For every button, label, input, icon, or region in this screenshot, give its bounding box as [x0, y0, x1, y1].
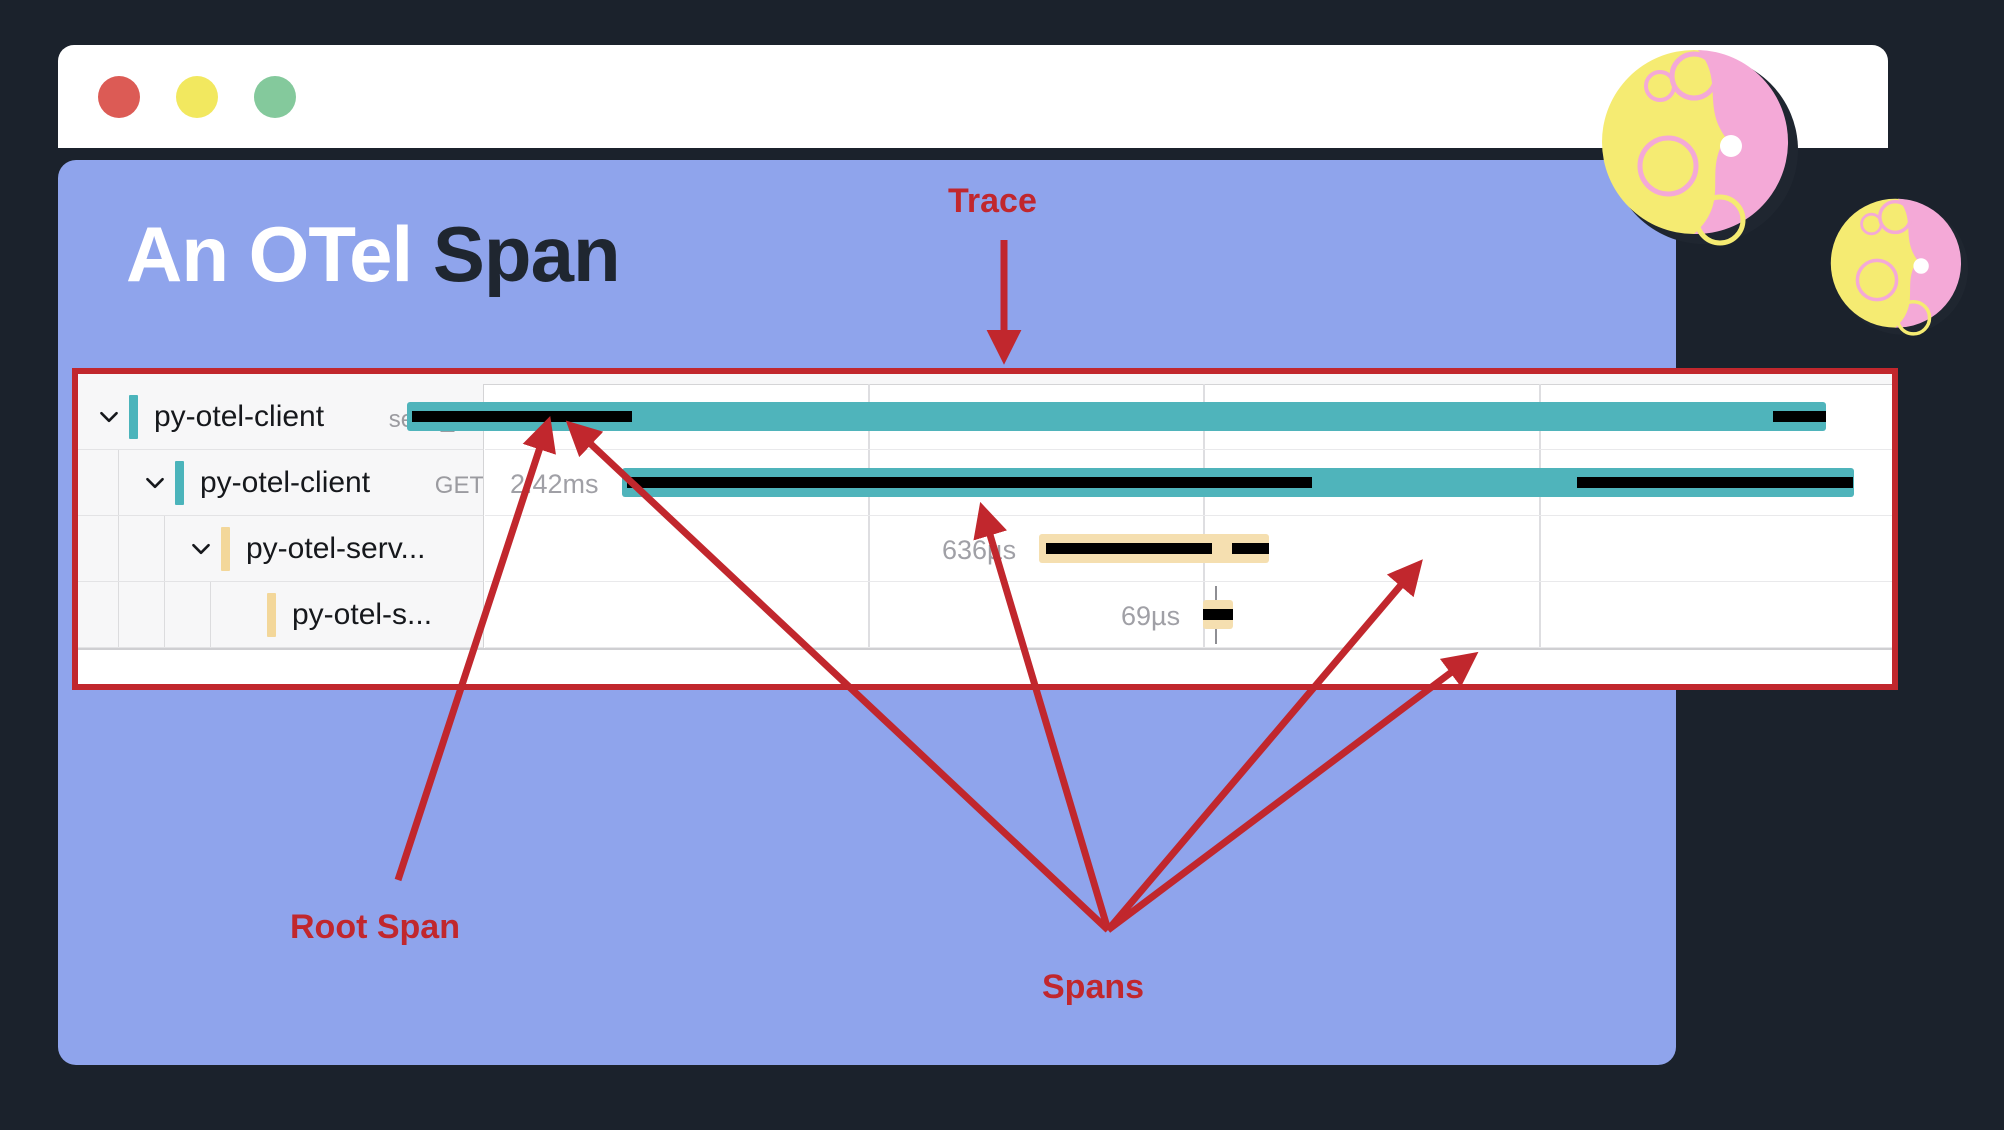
- trace-waterfall[interactable]: py-otel-clientsend_r...py-otel-clientGET…: [78, 374, 1892, 650]
- indent-guide: [118, 450, 119, 516]
- indent-guide: [118, 582, 119, 648]
- span-inner-segment-bar: [1232, 543, 1269, 554]
- annotation-label-root-span: Root Span: [290, 908, 460, 947]
- span-duration-label: 69µs: [1121, 601, 1180, 632]
- span-inner-segment-bar: [1203, 609, 1233, 620]
- span-row[interactable]: py-otel-serv...636µs: [78, 516, 1892, 582]
- span-service-name: py-otel-client: [200, 466, 370, 500]
- span-row-label-cell[interactable]: py-otel-serv...: [78, 516, 484, 582]
- span-timeline-track[interactable]: 69µs: [485, 582, 1892, 648]
- expand-collapse-chevron-icon[interactable]: [188, 536, 214, 562]
- span-timeline-track[interactable]: [485, 384, 1892, 450]
- minimize-button[interactable]: [176, 76, 218, 118]
- trace-highlight-box: py-otel-clientsend_r...py-otel-clientGET…: [72, 368, 1898, 690]
- span-duration-label: 636µs: [942, 535, 1016, 566]
- indent-guide: [164, 582, 165, 648]
- waterfall-bottom-rule: [78, 648, 1892, 650]
- service-color-tick: [129, 395, 138, 439]
- span-timeline-track[interactable]: 2.42ms: [485, 450, 1892, 516]
- span-duration-label: 2.42ms: [510, 469, 599, 500]
- page-title: An OTel Span: [126, 215, 620, 293]
- span-row[interactable]: py-otel-clientGET2.42ms: [78, 450, 1892, 516]
- annotation-label-spans: Spans: [1042, 968, 1144, 1007]
- planet-graphic-small: [1828, 196, 1968, 336]
- span-inner-segment-bar: [1046, 543, 1212, 554]
- close-button[interactable]: [98, 76, 140, 118]
- service-color-tick: [267, 593, 276, 637]
- span-service-name: py-otel-serv...: [246, 532, 426, 566]
- span-row-label-cell[interactable]: py-otel-clientGET: [78, 450, 484, 516]
- indent-guide: [164, 516, 165, 582]
- indent-guide: [210, 582, 211, 648]
- span-service-name: py-otel-s...: [292, 598, 432, 632]
- service-color-tick: [175, 461, 184, 505]
- span-inner-segment-bar: [1773, 411, 1826, 422]
- traffic-light-group: [98, 45, 296, 148]
- span-row[interactable]: py-otel-s...69µs: [78, 582, 1892, 648]
- span-timeline-track[interactable]: 636µs: [485, 516, 1892, 582]
- span-inner-segment-bar: [412, 411, 632, 422]
- service-color-tick: [221, 527, 230, 571]
- span-row-label-cell[interactable]: py-otel-s...: [78, 582, 484, 648]
- browser-window-chrome: [58, 45, 1888, 148]
- span-service-name: py-otel-client: [154, 400, 324, 434]
- span-inner-segment-bar: [627, 477, 1312, 488]
- span-operation-name: GET: [435, 472, 484, 500]
- span-inner-segment-bar: [1577, 477, 1853, 488]
- indent-guide: [118, 516, 119, 582]
- expand-collapse-chevron-icon[interactable]: [96, 404, 122, 430]
- page-title-highlight: An OTel: [126, 210, 412, 298]
- annotation-label-trace: Trace: [948, 182, 1037, 221]
- span-row[interactable]: py-otel-clientsend_r...: [78, 384, 1892, 450]
- page-title-emphasis: Span: [433, 210, 620, 298]
- maximize-button[interactable]: [254, 76, 296, 118]
- expand-collapse-chevron-icon[interactable]: [142, 470, 168, 496]
